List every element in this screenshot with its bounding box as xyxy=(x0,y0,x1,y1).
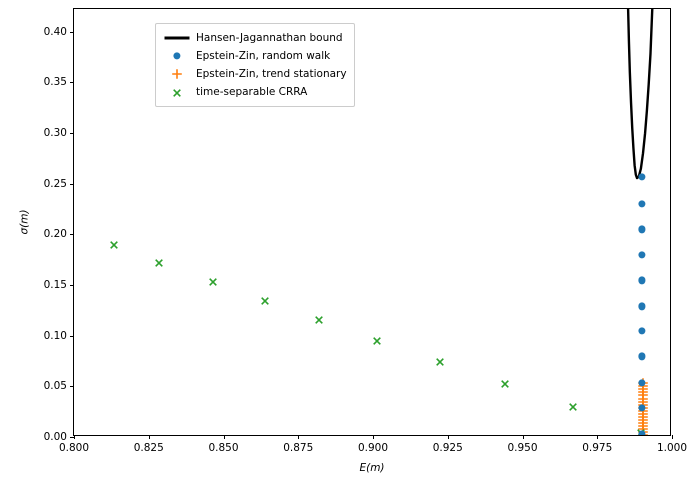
y-tick-label: 0.05 xyxy=(44,380,67,392)
y-tick-label: 0.15 xyxy=(44,279,67,291)
x-tick xyxy=(373,435,374,439)
y-tick xyxy=(70,336,74,337)
x-tick xyxy=(74,435,75,439)
y-tick-label: 0.20 xyxy=(44,228,67,240)
y-tick-label: 0.40 xyxy=(44,26,67,38)
datapoint-time-separable-crra xyxy=(569,403,578,412)
y-tick-label: 0.10 xyxy=(44,330,67,342)
y-tick-label: 0.35 xyxy=(44,76,67,88)
x-tick-label: 0.800 xyxy=(59,442,89,454)
x-tick xyxy=(597,435,598,439)
x-tick-label: 0.875 xyxy=(283,442,313,454)
figure-canvas: σ(m) 0.000.050.100.150.200.250.300.350.4… xyxy=(0,0,689,490)
y-tick xyxy=(70,133,74,134)
legend-box[interactable]: Hansen-Jagannathan boundEpstein-Zin, ran… xyxy=(155,23,355,107)
legend-marker-circle-icon xyxy=(162,49,192,63)
datapoint-epstein-zin-random-walk xyxy=(639,430,646,435)
x-axis-label-text: E(m) xyxy=(359,462,384,474)
x-tick xyxy=(298,435,299,439)
x-tick xyxy=(672,435,673,439)
legend-marker-plus-icon xyxy=(162,67,192,81)
legend-item-0[interactable]: Hansen-Jagannathan bound xyxy=(162,29,347,47)
datapoint-time-separable-crra xyxy=(209,277,218,286)
legend-item-3[interactable]: time-separable CRRA xyxy=(162,83,347,101)
y-tick xyxy=(70,234,74,235)
y-tick-label: 0.25 xyxy=(44,178,67,190)
x-tick xyxy=(149,435,150,439)
datapoint-time-separable-crra xyxy=(155,259,164,268)
datapoint-time-separable-crra xyxy=(110,240,119,249)
y-tick xyxy=(70,82,74,83)
y-tick-label: 0.30 xyxy=(44,127,67,139)
legend-item-1[interactable]: Epstein-Zin, random walk xyxy=(162,47,347,65)
y-tick xyxy=(70,32,74,33)
y-tick xyxy=(70,386,74,387)
x-tick-label: 0.825 xyxy=(134,442,164,454)
y-tick xyxy=(70,285,74,286)
y-axis-label-text: σ(m) xyxy=(19,209,31,234)
x-tick-label: 0.900 xyxy=(358,442,388,454)
legend-label: Epstein-Zin, trend stationary xyxy=(192,68,347,80)
x-tick-label: 0.950 xyxy=(507,442,537,454)
datapoint-time-separable-crra xyxy=(261,296,270,305)
datapoint-time-separable-crra xyxy=(373,337,382,346)
x-axis-label: E(m) xyxy=(73,462,671,474)
legend-item-2[interactable]: Epstein-Zin, trend stationary xyxy=(162,65,347,83)
datapoint-time-separable-crra xyxy=(315,316,324,325)
datapoint-time-separable-crra xyxy=(436,358,445,367)
y-axis-label: σ(m) xyxy=(12,8,37,436)
x-tick-label: 1.000 xyxy=(657,442,687,454)
legend-label: time-separable CRRA xyxy=(192,86,307,98)
x-tick xyxy=(224,435,225,439)
legend-label: Hansen-Jagannathan bound xyxy=(192,32,343,44)
legend-label: Epstein-Zin, random walk xyxy=(192,50,330,62)
legend-marker-cross-icon xyxy=(162,85,192,99)
legend-marker-line-icon xyxy=(162,31,192,45)
x-tick xyxy=(448,435,449,439)
x-tick xyxy=(523,435,524,439)
x-tick-label: 0.925 xyxy=(433,442,463,454)
x-tick-label: 0.975 xyxy=(582,442,612,454)
x-tick-label: 0.850 xyxy=(208,442,238,454)
plot-axes: 0.000.050.100.150.200.250.300.350.40 0.8… xyxy=(73,8,671,436)
y-tick xyxy=(70,184,74,185)
datapoint-time-separable-crra xyxy=(500,380,509,389)
